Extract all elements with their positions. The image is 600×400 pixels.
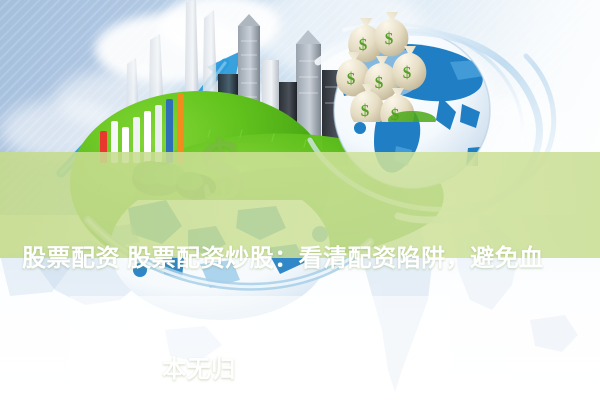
svg-text:$: $ [347,69,356,88]
svg-text:$: $ [385,29,394,48]
caption-line-2: 本无归 [22,351,586,388]
money-bags: $ $ $ $ $ $ [330,2,470,122]
caption-text: 股票配资 股票配资炒股：看清配资陷阱，避免血 本无归 [0,152,600,258]
caption-line-1: 股票配资 股票配资炒股：看清配资陷阱，避免血 [22,240,586,277]
svg-text:$: $ [403,63,412,82]
svg-text:$: $ [361,101,370,120]
banner-image: $ [0,0,600,400]
svg-text:$: $ [359,35,368,54]
svg-text:$: $ [375,73,384,92]
